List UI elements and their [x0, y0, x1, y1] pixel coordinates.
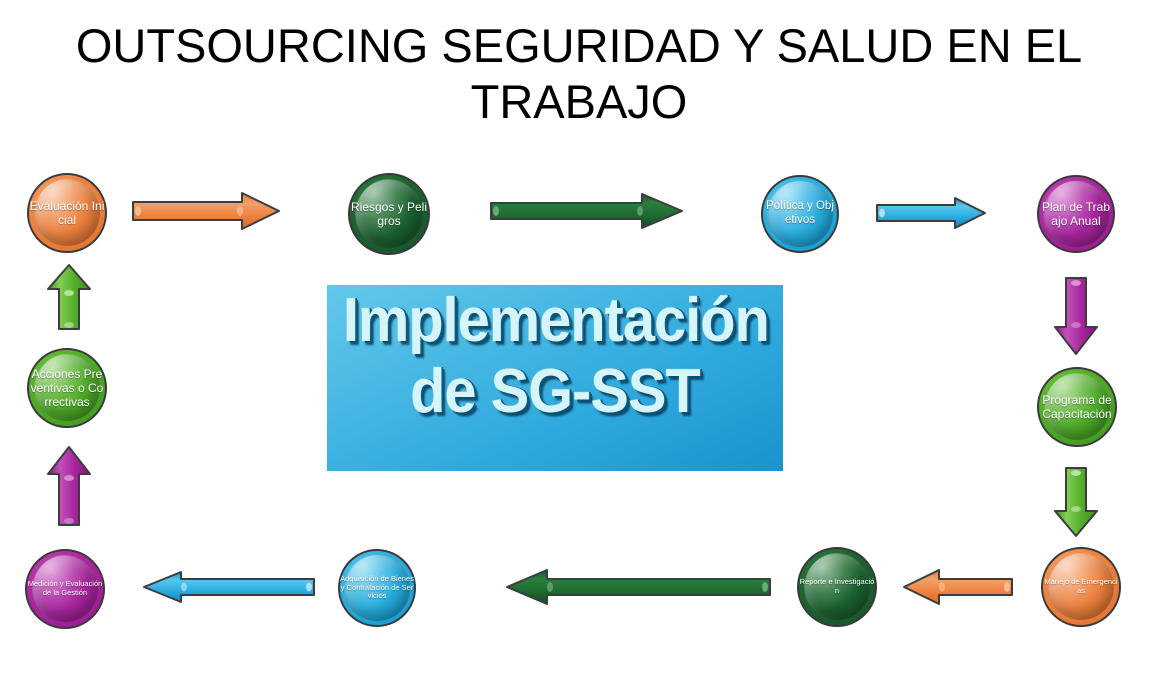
node-riesgos-peligros[interactable]: Riesgos y Peligros	[348, 173, 430, 255]
arrow-riesgos-to-politica	[490, 192, 683, 230]
banner-text-block: Implementación de SG-SST	[327, 291, 783, 423]
node-label: Política y Objetivos	[763, 200, 837, 227]
arrow-politica-to-plan	[876, 196, 986, 230]
node-label: Evaluación Inicial	[29, 199, 105, 227]
arrow-programa-to-manejo	[1053, 467, 1099, 537]
page-title: OUTSOURCING SEGURIDAD Y SALUD EN EL TRAB…	[0, 18, 1158, 130]
diagram-canvas: OUTSOURCING SEGURIDAD Y SALUD EN EL TRAB…	[0, 0, 1158, 674]
node-label: Programa de Capacitación	[1039, 393, 1115, 421]
node-label: Reporte e Investigación	[799, 578, 875, 596]
center-banner-implementacion-sgsst: Implementación de SG-SST	[327, 285, 783, 471]
node-adquisicion-bienes[interactable]: Adquisición de Bienes y Contratación de …	[338, 549, 416, 627]
arrow-acciones-to-evaluacion	[46, 264, 92, 330]
arrow-medicion-to-acciones	[46, 446, 92, 526]
node-label: Acciones Preventivas o Correctivas	[29, 367, 105, 409]
node-medicion-evaluacion[interactable]: Medición y Evaluación de la Gestión	[25, 549, 105, 629]
banner-line-1: Implementación	[343, 291, 767, 352]
banner-line-2: de SG-SST	[343, 362, 767, 423]
node-label: Adquisición de Bienes y Contratación de …	[340, 575, 414, 602]
node-politica-objetivos[interactable]: Política y Objetivos	[761, 175, 839, 253]
node-reporte-investigacion[interactable]: Reporte e Investigación	[797, 547, 877, 627]
node-evaluacion-inicial[interactable]: Evaluación Inicial	[27, 173, 107, 253]
arrow-reporte-to-adquisicion	[506, 568, 771, 606]
arrow-manejo-to-reporte	[903, 568, 1013, 606]
arrow-evaluacion-to-riesgos	[132, 192, 280, 230]
node-plan-trabajo-anual[interactable]: Plan de Trabajo Anual	[1037, 175, 1115, 253]
node-label: Medición y Evaluación de la Gestión	[27, 580, 103, 598]
node-manejo-emergencias[interactable]: Manejo de Emergencias	[1041, 547, 1121, 627]
node-label: Plan de Trabajo Anual	[1039, 200, 1113, 228]
arrow-adquisicion-to-medicion	[143, 570, 315, 604]
node-acciones-preventivas[interactable]: Acciones Preventivas o Correctivas	[27, 348, 107, 428]
node-programa-capacitacion[interactable]: Programa de Capacitación	[1037, 367, 1117, 447]
arrow-plan-to-programa	[1053, 277, 1099, 355]
node-label: Manejo de Emergencias	[1043, 578, 1119, 596]
node-label: Riesgos y Peligros	[350, 200, 428, 228]
